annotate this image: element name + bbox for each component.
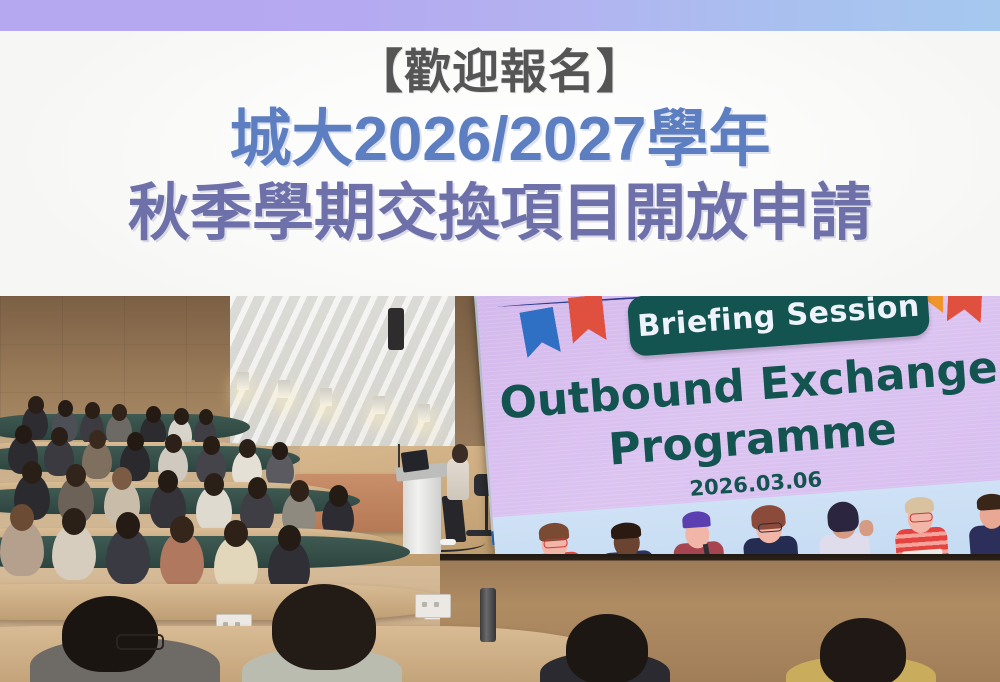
student-waving-hand <box>859 520 874 537</box>
audience-head <box>58 400 73 417</box>
audience-head <box>66 464 86 487</box>
bunting-flag-blue <box>519 307 561 358</box>
student-glasses <box>758 522 783 533</box>
foreground-audience-glasses <box>116 634 164 650</box>
audience-head <box>165 434 182 453</box>
lectern <box>403 476 441 554</box>
ceiling-speaker <box>388 308 404 350</box>
top-gradient-bar <box>0 0 1000 31</box>
water-bottle <box>480 588 496 642</box>
audience-head <box>62 508 86 535</box>
audience-head <box>127 432 144 451</box>
audience-head <box>278 525 301 551</box>
audience-head <box>89 430 106 449</box>
audience-head <box>174 408 189 425</box>
audience-head <box>10 504 34 531</box>
student-hair <box>976 493 1000 511</box>
wall-sconce <box>373 396 385 414</box>
audience-head <box>51 427 68 446</box>
audience-head <box>272 442 288 460</box>
foreground-audience-head <box>272 584 376 670</box>
briefing-session-banner: Briefing Session <box>627 296 931 357</box>
student-hair <box>904 496 934 514</box>
wall-sconce <box>278 380 290 398</box>
audience-head <box>158 470 178 493</box>
audience-head <box>170 516 194 543</box>
audience-head <box>239 439 256 458</box>
audience-head <box>85 402 100 419</box>
power-socket <box>415 594 451 618</box>
poster-root: 【歡迎報名】 城大2026/2027學年 秋季學期交換項目開放申請 <box>0 0 1000 682</box>
event-photo: Briefing Session Outbound Exchange Progr… <box>0 296 1000 682</box>
female-presenter-head <box>452 444 468 463</box>
stool-leg <box>485 494 488 534</box>
audience-head <box>329 485 348 507</box>
bunting-flag-red <box>947 296 983 323</box>
audience-head <box>224 520 248 547</box>
audience-head <box>15 425 32 444</box>
audience-head <box>146 406 161 423</box>
audience-head <box>290 480 309 502</box>
wall-sconce <box>237 372 249 390</box>
audience-head <box>203 436 220 455</box>
audience-head <box>248 477 267 499</box>
audience-head <box>112 467 132 490</box>
female-presenter-shoe <box>440 539 456 545</box>
briefing-session-label: Briefing Session <box>636 296 921 344</box>
female-presenter-body <box>447 458 469 500</box>
foreground-audience-head <box>820 618 906 682</box>
student-beanie <box>682 510 711 528</box>
headline-academic-year: 城大2026/2027學年 <box>0 109 1000 171</box>
student-hair <box>826 501 859 533</box>
title-stack: 【歡迎報名】 城大2026/2027學年 秋季學期交換項目開放申請 <box>0 48 1000 245</box>
audience-head <box>204 473 224 496</box>
headline-application-open: 秋季學期交換項目開放申請 <box>0 183 1000 245</box>
wall-sconce <box>320 388 332 406</box>
student-hair <box>610 522 641 540</box>
lectern-monitor <box>401 449 430 472</box>
audience-head <box>112 404 127 421</box>
wall-sconce <box>418 404 430 422</box>
bunting-flag-red <box>568 296 607 344</box>
headline-welcome: 【歡迎報名】 <box>0 48 1000 95</box>
student-glasses <box>543 538 568 549</box>
foreground-audience-head <box>566 614 648 682</box>
audience-head <box>199 409 213 425</box>
audience-head <box>116 512 140 539</box>
audience-head <box>22 461 42 484</box>
student-glasses <box>909 512 933 523</box>
audience-head <box>28 396 44 414</box>
poster-header: 【歡迎報名】 城大2026/2027學年 秋季學期交換項目開放申請 <box>0 31 1000 296</box>
back-wall-textured-panel <box>230 296 480 446</box>
